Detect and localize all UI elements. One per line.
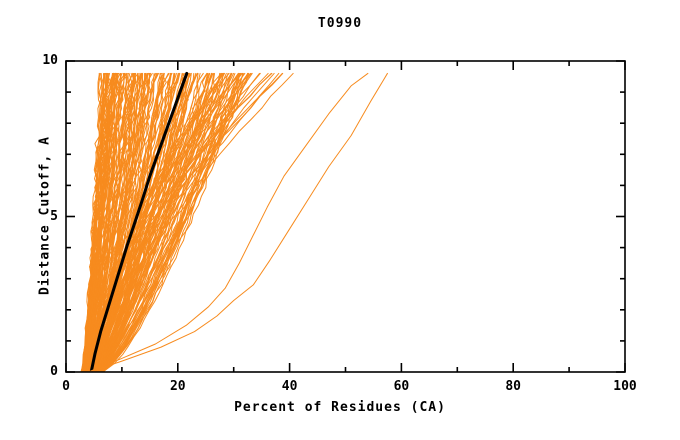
plot-canvas: [0, 0, 680, 440]
y-tick-label: 10: [28, 53, 58, 68]
ensemble-curves: [81, 73, 293, 372]
x-tick-label: 0: [46, 379, 86, 394]
chart-root: T0990 Distance Cutoff, A Percent of Resi…: [0, 0, 680, 440]
y-tick-label: 5: [28, 209, 58, 224]
x-tick-label: 20: [158, 379, 198, 394]
y-tick-label: 0: [28, 364, 58, 379]
x-tick-label: 80: [493, 379, 533, 394]
x-tick-label: 100: [605, 379, 645, 394]
x-tick-label: 40: [270, 379, 310, 394]
x-tick-label: 60: [381, 379, 421, 394]
